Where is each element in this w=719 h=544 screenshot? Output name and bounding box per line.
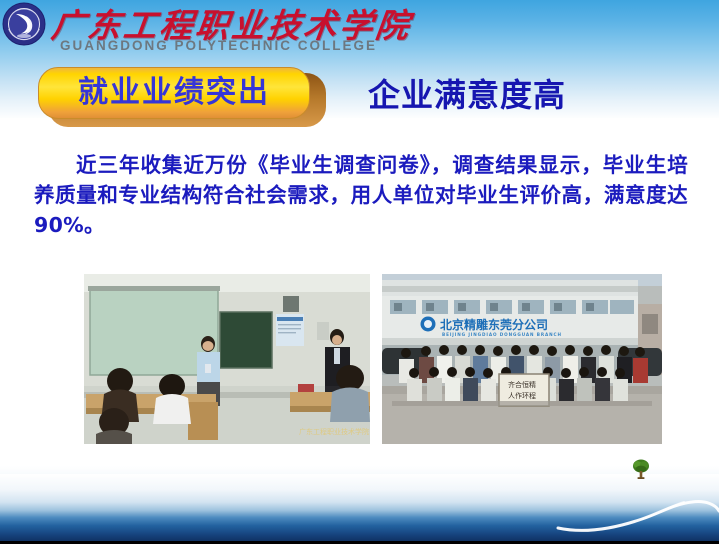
- company-group-photo: 北京精雕东莞分公司 BEIJING JINGDIAO DONGGUAN BRAN…: [382, 274, 662, 444]
- svg-text:北京精雕东莞分公司: 北京精雕东莞分公司: [440, 317, 548, 332]
- banner-label: 就业业绩突出: [78, 78, 270, 108]
- svg-text:BEIJING JINGDIAO DONGGUAN BRAN: BEIJING JINGDIAO DONGGUAN BRANCH: [442, 332, 562, 337]
- college-name-en: GUANGDONG POLYTECHNIC COLLEGE: [60, 38, 377, 53]
- presentation-slide: 广东工程职业技术学院 GUANGDONG POLYTECHNIC COLLEGE…: [0, 0, 719, 544]
- tree-icon: [631, 458, 651, 480]
- svg-text:广东工程职业技术学院: 广东工程职业技术学院: [299, 427, 369, 436]
- classroom-presentation-photo: 广东工程职业技术学院: [84, 274, 370, 444]
- section-banner: 就业业绩突出: [38, 67, 326, 127]
- svg-text:齐合恒精: 齐合恒精: [508, 380, 536, 389]
- college-seal-icon: [2, 2, 46, 46]
- banner-face: 就业业绩突出: [38, 67, 310, 119]
- body-paragraph: 近三年收集近万份《毕业生调查问卷》，调查结果显示，毕业生培养质量和专业结构符合社…: [34, 150, 688, 240]
- slide-header: 广东工程职业技术学院 GUANGDONG POLYTECHNIC COLLEGE: [0, 0, 719, 60]
- wave-swoosh: [556, 488, 719, 534]
- svg-text:人作环程: 人作环程: [508, 391, 536, 400]
- page-title: 企业满意度高: [368, 70, 566, 116]
